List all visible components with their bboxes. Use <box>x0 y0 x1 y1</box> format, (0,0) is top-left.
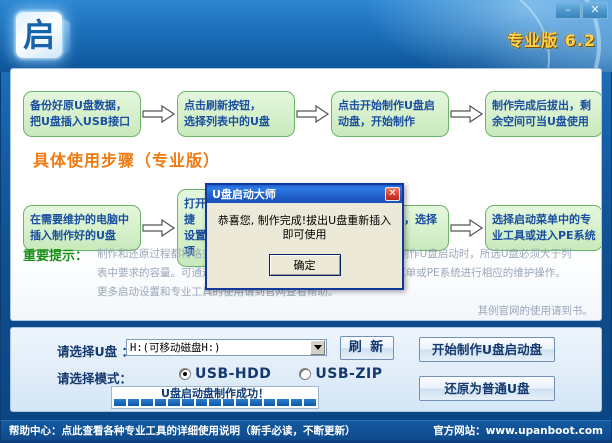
dialog-message: 恭喜您, 制作完成!拔出U盘重新插入即可使用 <box>213 214 396 242</box>
step-box-1: 备份好原U盘数据， 把U盘插入USB接口 <box>23 91 141 137</box>
progress-status-text: U盘启动盘制作成功！ <box>111 385 319 401</box>
step-box-3-line2: 动盘，开始制作 <box>338 115 415 128</box>
completion-dialog: U盘启动大师 ✕ 恭喜您, 制作完成!拔出U盘重新插入即可使用 确定 <box>205 183 404 290</box>
step-box-1-line1: 备份好原U盘数据， <box>30 99 127 112</box>
usb-drive-value: H:(可移动磁盘H:) <box>127 340 310 355</box>
dialog-close-icon[interactable]: ✕ <box>385 187 400 201</box>
minimize-button[interactable]: – <box>555 2 581 19</box>
radio-usb-hdd-indicator <box>179 368 191 380</box>
dialog-title: U盘启动大师 <box>212 186 385 202</box>
window-controls: – ✕ <box>555 2 608 19</box>
steps-row-1: 备份好原U盘数据， 把U盘插入USB接口 点击刷新按钮， 选择列表中的U盘 点击… <box>23 91 602 137</box>
step-box-4-line1: 制作完成后拔出，剩 <box>492 99 591 112</box>
arrow-icon-1 <box>141 101 177 127</box>
version-label: 专业版 6.2 <box>507 27 596 51</box>
arrow-icon-3 <box>449 101 485 127</box>
step-box-8-line1: 选择启动菜单中的专 <box>492 213 591 226</box>
dialog-ok-button[interactable]: 确定 <box>269 254 341 276</box>
help-center-link[interactable]: 帮助中心：点此查看各种专业工具的详细使用说明（新手必读，不断更新） <box>9 423 356 438</box>
section-title: 具体使用步骤（专业版） <box>33 147 220 171</box>
step-box-3-line1: 点击开始制作U盘启 <box>338 99 435 112</box>
step-box-5-line2: 插入制作好的U盘 <box>30 229 116 242</box>
logo-glyph: 启 <box>23 19 55 51</box>
title-bar: 启 专业版 6.2 <box>0 0 612 72</box>
dialog-title-bar: U盘启动大师 ✕ <box>207 185 402 203</box>
step-box-2: 点击刷新按钮， 选择列表中的U盘 <box>177 91 295 137</box>
mode-radio-group: USB-HDD USB-ZIP <box>179 366 382 382</box>
radio-usb-zip[interactable]: USB-ZIP <box>299 366 382 382</box>
radio-usb-hdd-label: USB-HDD <box>195 366 271 382</box>
refresh-button[interactable]: 刷 新 <box>340 336 394 360</box>
step-box-2-line1: 点击刷新按钮， <box>184 99 261 112</box>
notice-line-4: 其例官网的使用请到书。 <box>97 302 593 321</box>
step-box-4: 制作完成后拔出，剩 余空间可当U盘使用 <box>485 91 602 137</box>
application-window: 启 专业版 6.2 – ✕ 备份好原U盘数据， 把U盘插入USB接口 <box>0 0 612 443</box>
app-logo: 启 <box>16 12 62 58</box>
status-bar: 帮助中心：点此查看各种专业工具的详细使用说明（新手必读，不断更新） 官方网站：w… <box>1 420 611 440</box>
close-button[interactable]: ✕ <box>582 2 608 19</box>
radio-usb-zip-label: USB-ZIP <box>315 366 382 382</box>
progress-area: U盘启动盘制作成功！ <box>111 386 319 410</box>
step-box-3: 点击开始制作U盘启 动盘，开始制作 <box>331 91 449 137</box>
step-box-4-line2: 余空间可当U盘使用 <box>492 115 589 128</box>
control-panel: 请选择U盘 ： H:(可移动磁盘H:) 刷 新 请选择模式： USB-HDD U… <box>10 327 602 412</box>
arrow-icon-6 <box>449 215 485 241</box>
start-make-button[interactable]: 开始制作U盘启动盘 <box>419 337 555 362</box>
step-box-2-line2: 选择列表中的U盘 <box>184 115 270 128</box>
step-box-8-line2: 业工具或进入PE系统 <box>492 229 596 242</box>
minimize-icon: – <box>556 2 580 17</box>
step-box-5-line1: 在需要维护的电脑中 <box>30 213 129 226</box>
usb-select-label: 请选择U盘 ： <box>57 341 134 360</box>
dialog-body: 恭喜您, 制作完成!拔出U盘重新插入即可使用 确定 <box>207 203 402 288</box>
close-icon: ✕ <box>583 2 607 17</box>
step-box-1-line2: 把U盘插入USB接口 <box>30 115 130 128</box>
official-site-link[interactable]: 官方网站：www.upanboot.com <box>433 423 603 438</box>
radio-usb-zip-indicator <box>299 368 311 380</box>
arrow-icon-2 <box>295 101 331 127</box>
chevron-down-icon[interactable] <box>310 340 325 355</box>
arrow-icon-4 <box>141 215 177 241</box>
radio-usb-hdd[interactable]: USB-HDD <box>179 366 271 382</box>
notice-heading: 重要提示： <box>23 245 88 264</box>
restore-button[interactable]: 还原为普通U盘 <box>419 376 555 401</box>
usb-drive-select[interactable]: H:(可移动磁盘H:) <box>126 339 327 356</box>
